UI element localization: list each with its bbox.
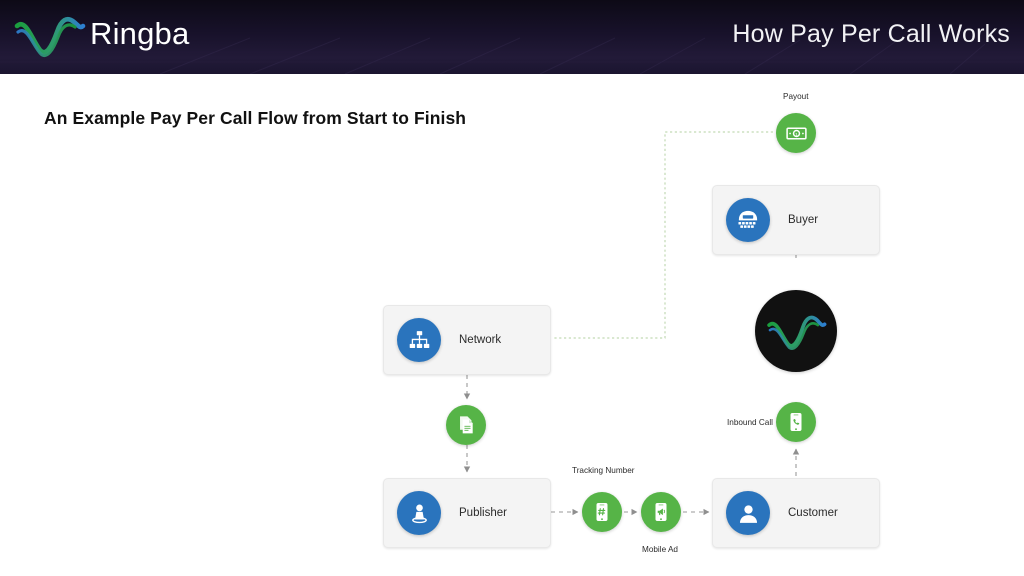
user-icon <box>736 501 761 526</box>
node-customer[interactable]: Customer <box>712 478 880 548</box>
svg-text:1: 1 <box>795 131 798 137</box>
sitemap-icon <box>407 328 432 353</box>
flow-diagram: Payout 1 <box>0 74 1024 576</box>
money-bill-icon: 1 <box>785 122 808 145</box>
node-buyer[interactable]: Buyer <box>712 185 880 255</box>
mobile-phone-call-icon <box>785 411 807 433</box>
inbound-call-label: Inbound Call <box>727 418 773 427</box>
mobile-megaphone-icon <box>650 501 672 523</box>
call-center-phone-icon-wrap <box>726 198 770 242</box>
user-tie-icon <box>407 501 432 526</box>
publisher-label: Publisher <box>459 507 507 519</box>
buyer-label: Buyer <box>788 214 818 226</box>
mobile-hash-icon <box>591 501 613 523</box>
tracking-number-label: Tracking Number <box>572 466 635 475</box>
node-publisher[interactable]: Publisher <box>383 478 551 548</box>
node-payout[interactable]: 1 <box>776 113 816 153</box>
node-mobile-ad[interactable] <box>641 492 681 532</box>
header-title: How Pay Per Call Works <box>732 20 1010 49</box>
call-center-phone-icon <box>735 207 761 233</box>
brand-logo[interactable]: Ringba <box>14 10 189 60</box>
user-icon-wrap <box>726 491 770 535</box>
ringba-wave-logo-icon <box>765 310 827 352</box>
document-copy-icon <box>455 414 477 436</box>
network-label: Network <box>459 334 501 346</box>
brand-name: Ringba <box>90 18 189 52</box>
ringba-wave-logo-icon <box>14 10 86 60</box>
app-header: Ringba How Pay Per Call Works <box>0 0 1024 74</box>
mobile-ad-label: Mobile Ad <box>642 545 678 554</box>
payout-label: Payout <box>783 92 809 101</box>
node-ringba-core[interactable] <box>755 290 837 372</box>
user-tie-icon-wrap <box>397 491 441 535</box>
sitemap-icon-wrap <box>397 318 441 362</box>
customer-label: Customer <box>788 507 838 519</box>
node-tracking-number[interactable] <box>582 492 622 532</box>
node-offer[interactable] <box>446 405 486 445</box>
node-inbound-call[interactable] <box>776 402 816 442</box>
node-network[interactable]: Network <box>383 305 551 375</box>
